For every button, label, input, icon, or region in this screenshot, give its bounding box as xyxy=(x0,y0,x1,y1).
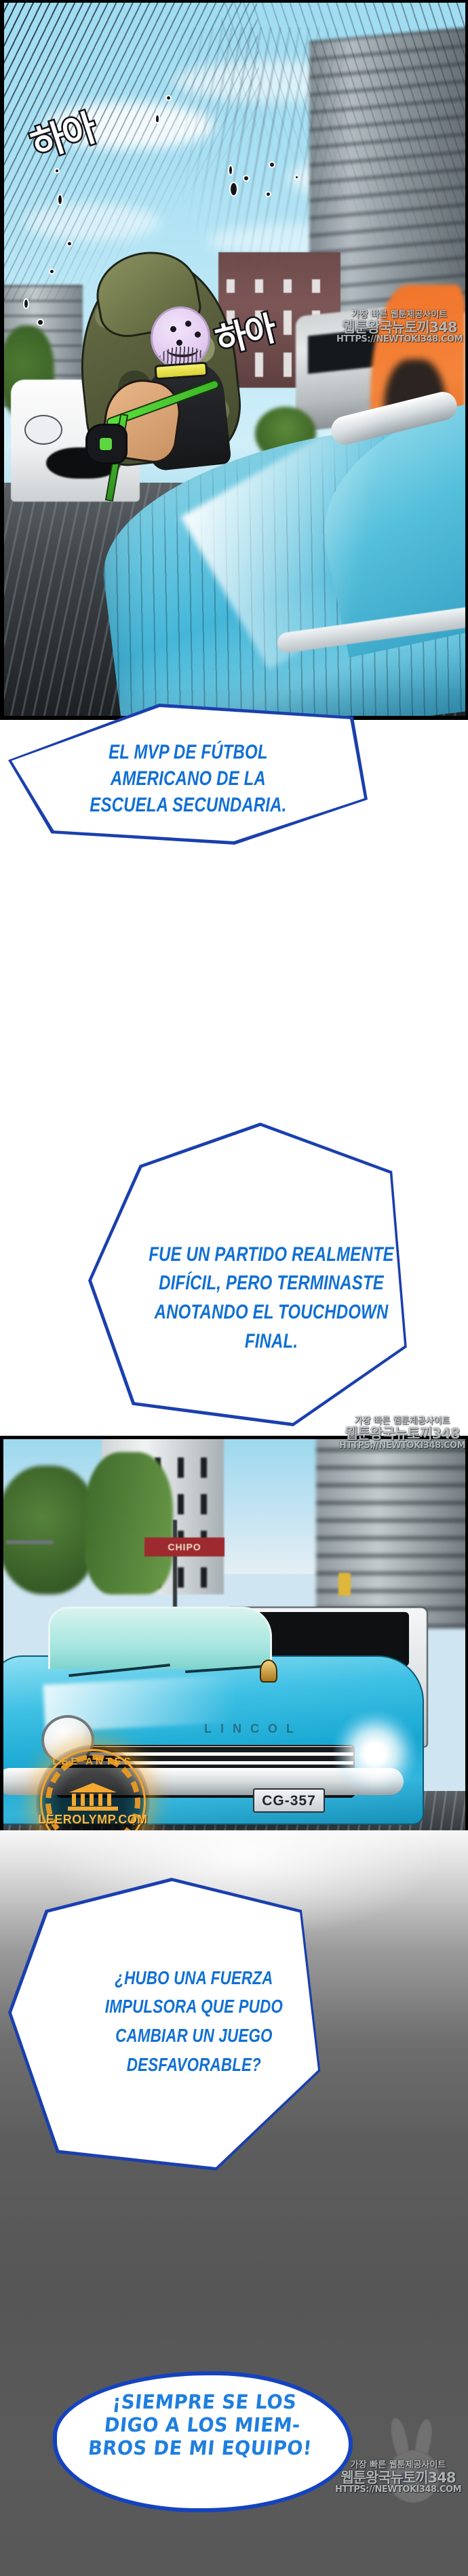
debris-speck xyxy=(66,241,73,247)
debris-speck xyxy=(294,175,299,180)
traffic-light xyxy=(338,1573,351,1596)
debris-speck xyxy=(229,182,238,197)
fingerless-glove xyxy=(85,424,128,464)
mask-dot xyxy=(185,321,191,327)
bubble-inner: FUE UN PARTIDO REALMENTE DIFÍCIL, PERO T… xyxy=(92,1126,451,1423)
street-lamp xyxy=(6,1540,54,1544)
bubble-text-touchdown: FUE UN PARTIDO REALMENTE DIFÍCIL, PERO T… xyxy=(132,1193,410,1356)
bubble-text-team: ¡SIEMPRE SE LOS DIGO A LOS MIEM- BROS DE… xyxy=(71,2375,336,2460)
mask-dot xyxy=(195,331,201,338)
bubble-text-question: ¿HUBO UNA FUERZA IMPULSORA QUE PUDO CAMB… xyxy=(76,1952,313,2097)
watermark-line-1: 가장 빠른 웹툰제공사이트 xyxy=(339,1417,465,1426)
debris-speck xyxy=(49,268,55,275)
greek-temple-icon xyxy=(66,1782,119,1811)
debris-speck xyxy=(228,165,233,176)
bubble-inner: EL MVP DE FÚTBOL AMERICANO DE LA ESCUELA… xyxy=(12,707,364,841)
bubble-text-mvp: EL MVP DE FÚTBOL AMERICANO DE LA ESCUELA… xyxy=(90,731,286,818)
debris-speck xyxy=(269,161,275,168)
lincoln-windshield xyxy=(48,1607,272,1669)
lincoln-badge: LINCOL xyxy=(204,1722,340,1738)
panel-border-top xyxy=(0,0,468,3)
character-mask-face xyxy=(151,306,210,369)
webtoon-page: 하아 하아 가장 빠른 웹툰제공사이트 웹툰왕국뉴토끼348 HTTPS://N… xyxy=(0,0,468,2576)
mask-dot xyxy=(170,326,176,332)
license-plate: CG-357 xyxy=(253,1788,325,1813)
leerolymp-stamp-watermark: LEE ANTES LEEROLYMP.COM xyxy=(36,1745,150,1836)
debris-speck xyxy=(23,298,29,309)
debris-speck xyxy=(57,194,63,205)
hood-ornament xyxy=(260,1659,277,1683)
panel-vintage-car: CHIPO LINCOL CG-357 LEE ANTES xyxy=(0,1438,468,1836)
panel-street-chase: 하아 하아 xyxy=(0,0,468,720)
debris-speck xyxy=(54,168,60,174)
speech-bubble-mvp: EL MVP DE FÚTBOL AMERICANO DE LA ESCUELA… xyxy=(8,704,368,845)
storefront-sign: CHIPO xyxy=(144,1537,225,1556)
stamp-bottom-text: LEEROLYMP.COM xyxy=(36,1813,150,1827)
lincoln-headlight-right-glow xyxy=(334,1712,416,1794)
debris-speck xyxy=(155,114,160,123)
debris-speck xyxy=(265,191,271,197)
white-car-headlight xyxy=(24,415,62,445)
utility-pole xyxy=(173,1520,177,1608)
background-building-right xyxy=(316,1438,468,1628)
street-tree-center xyxy=(85,1452,173,1594)
street-tree-left xyxy=(0,1466,98,1594)
debris-speck xyxy=(165,95,172,101)
speech-bubble-team: ¡SIEMPRE SE LOS DIGO A LOS MIEM- BROS DE… xyxy=(53,2371,353,2512)
panel-border-top-2 xyxy=(0,1436,468,1439)
bunny-eye xyxy=(399,2473,408,2485)
speech-bubble-touchdown: FUE UN PARTIDO REALMENTE DIFÍCIL, PERO T… xyxy=(88,1123,454,1426)
bunny-head xyxy=(387,2450,440,2503)
debris-speck xyxy=(37,319,44,326)
stamp-top-text: LEE ANTES xyxy=(36,1756,150,1767)
bunny-mascot-watermark xyxy=(369,2417,457,2526)
bunny-eye xyxy=(418,2473,427,2485)
debris-speck xyxy=(243,175,250,182)
